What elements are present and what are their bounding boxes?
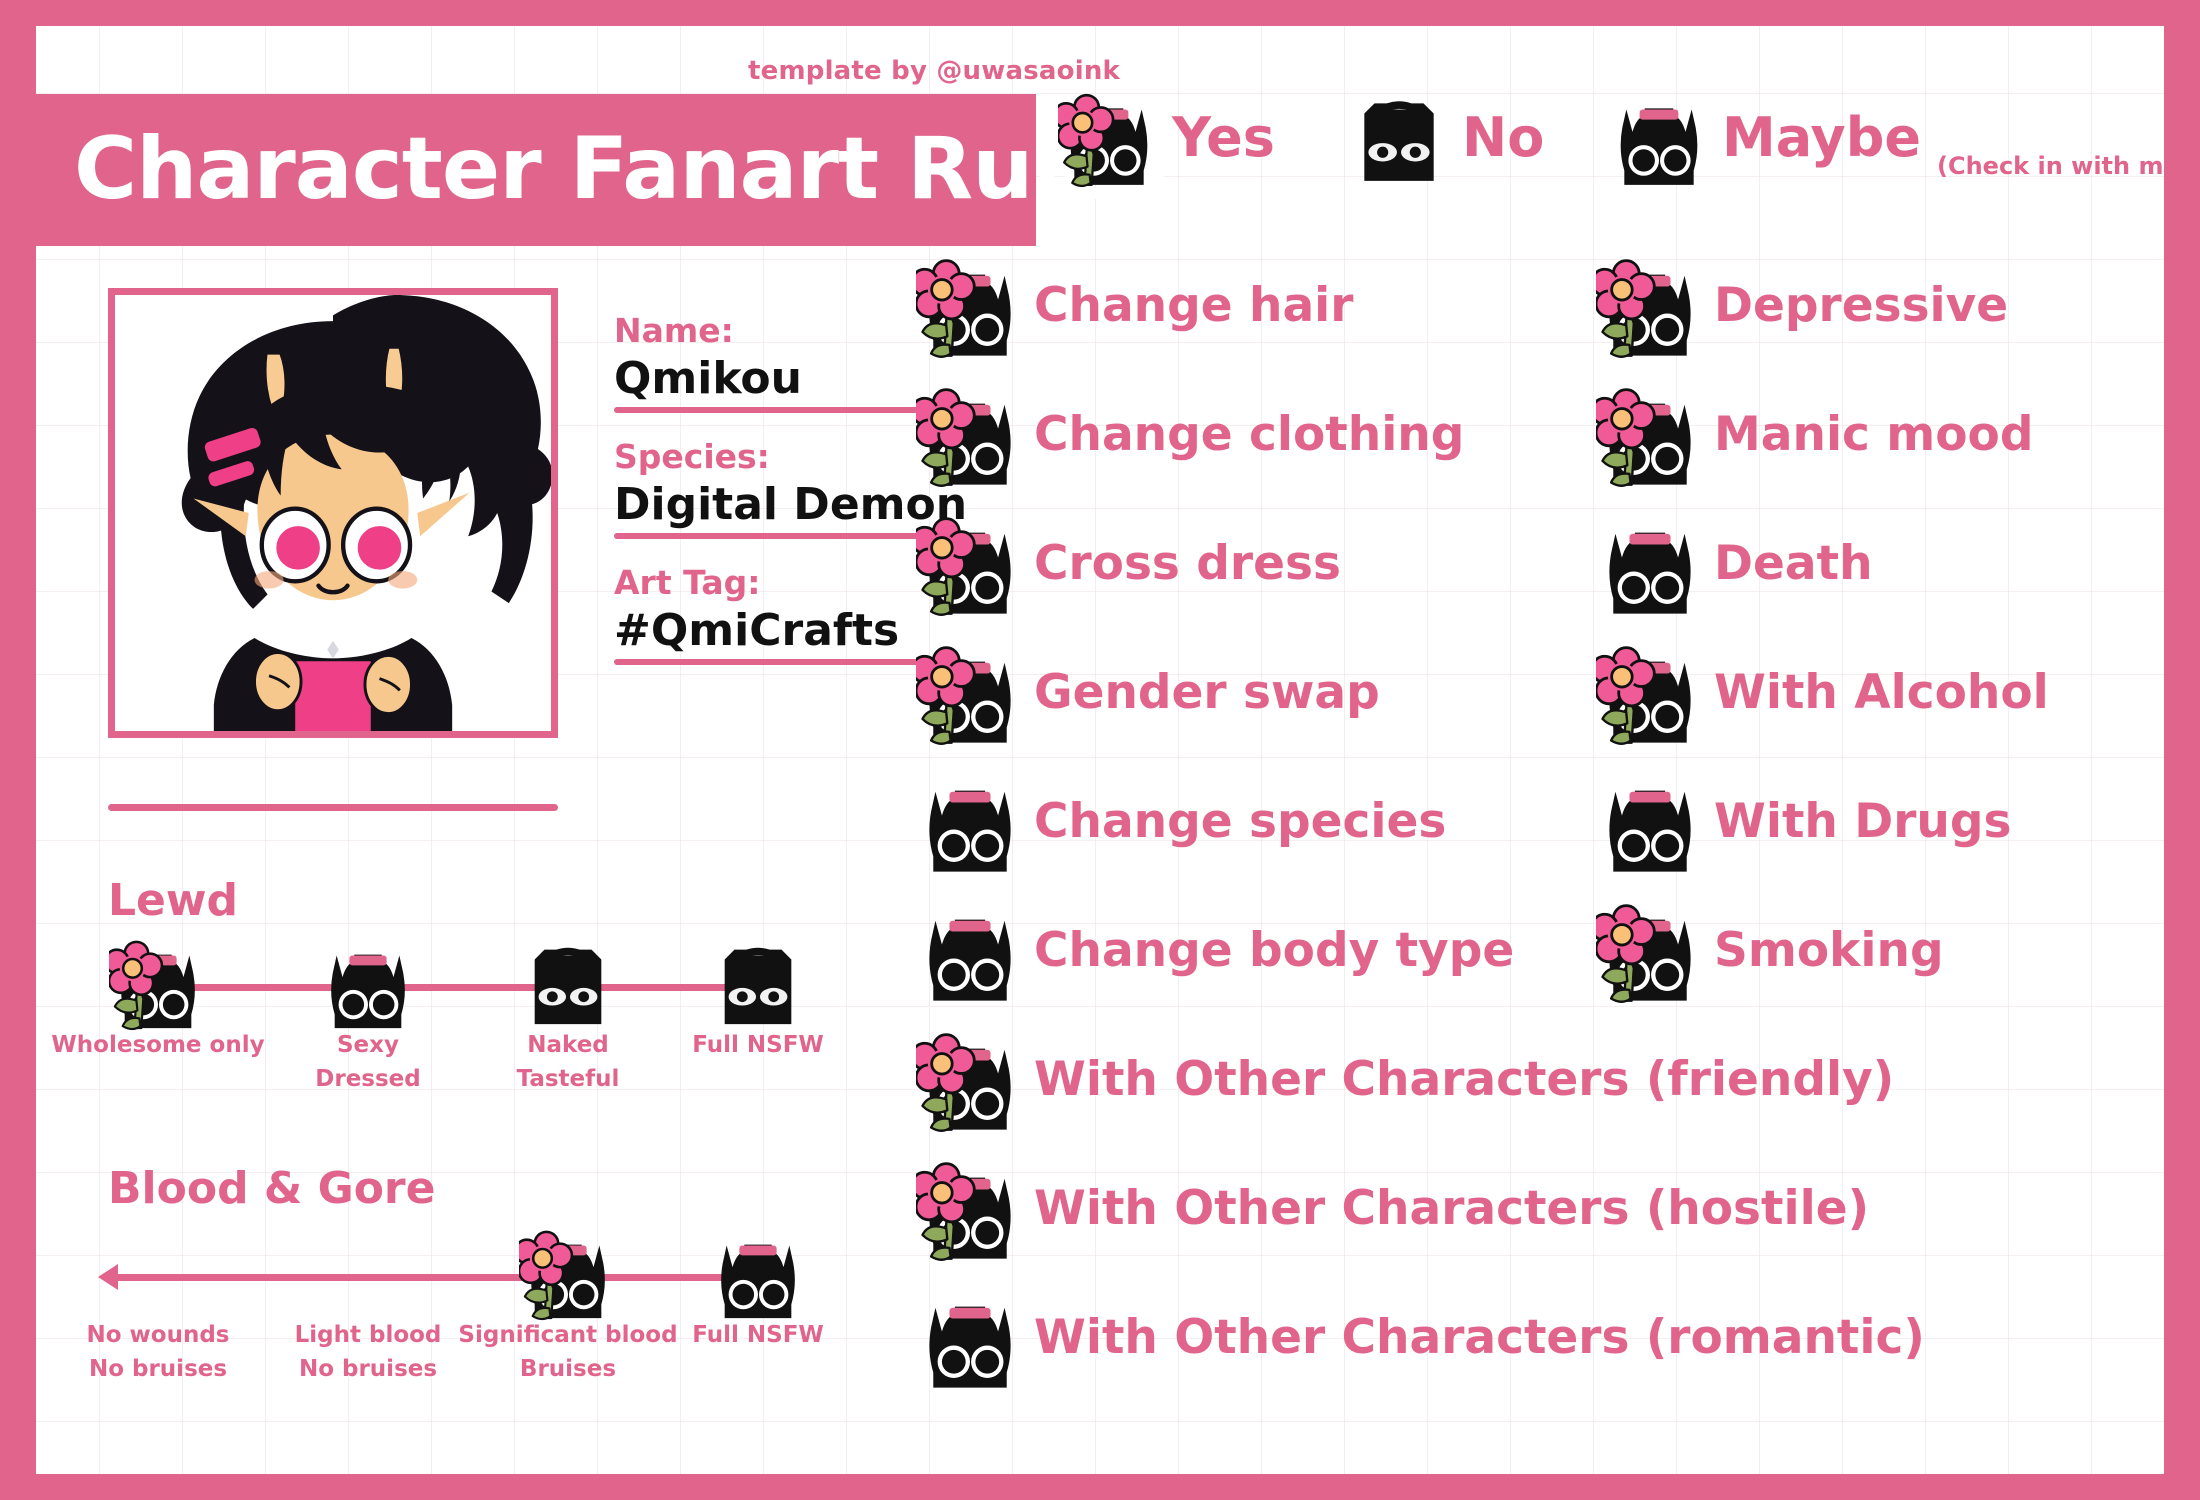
- rule-item: Death: [1596, 510, 1873, 618]
- yes-cat-flower-icon: [109, 934, 207, 1032]
- legend-label: No: [1462, 111, 1544, 165]
- rule-item: Change body type: [916, 897, 1514, 1005]
- scale-arrowhead: [98, 1264, 118, 1290]
- rule-item: With Other Characters (romantic): [916, 1284, 1925, 1392]
- legend-yes: Yes: [1058, 88, 1275, 188]
- scale-stop-caption: No woundsNo bruises: [86, 1318, 229, 1386]
- info-field: Name:Qmikou: [614, 311, 954, 413]
- yes-cat-flower-icon: [916, 639, 1024, 747]
- yes-cat-flower-icon: [1058, 87, 1160, 189]
- rule-item-label: With Other Characters (romantic): [1034, 1313, 1925, 1363]
- info-field: Species:Digital Demon: [614, 437, 954, 539]
- rule-item: Gender swap: [916, 639, 1380, 747]
- page-title: Character Fanart Rules: [74, 116, 1169, 222]
- scale-stop-caption: Full NSFW: [692, 1028, 824, 1062]
- scale-stop-caption: SexyDressed: [315, 1028, 420, 1096]
- legend-no: No: [1348, 88, 1544, 188]
- rule-item-label: Change hair: [1034, 281, 1353, 331]
- info-field-underline: [614, 533, 944, 539]
- yes-cat-flower-icon: [916, 252, 1024, 360]
- maybe-cat-band-icon: [1608, 87, 1710, 189]
- yes-cat-flower-icon: [519, 1224, 617, 1322]
- no-cat-dark-icon: [709, 934, 807, 1032]
- rule-item: Smoking: [1596, 897, 1944, 1005]
- rule-item-label: With Alcohol: [1714, 668, 2049, 718]
- rule-item-label: With Other Characters (hostile): [1034, 1184, 1869, 1234]
- yes-cat-flower-icon: [1596, 897, 1704, 1005]
- rule-item-label: Change species: [1034, 797, 1446, 847]
- info-field-label: Species:: [614, 437, 954, 477]
- no-cat-dark-icon: [1348, 87, 1450, 189]
- maybe-cat-band-icon: [916, 1284, 1024, 1392]
- rule-item-label: Cross dress: [1034, 539, 1341, 589]
- rule-item: Cross dress: [916, 510, 1341, 618]
- rules-sheet: template by @uwasaoink Character Fanart …: [36, 26, 2164, 1474]
- maybe-cat-band-icon: [709, 1224, 807, 1322]
- yes-cat-flower-icon: [1596, 252, 1704, 360]
- scale-lewd: Wholesome only SexyDressed NakedTasteful…: [108, 916, 948, 1096]
- rule-item: Change clothing: [916, 381, 1464, 489]
- info-field-label: Art Tag:: [614, 563, 954, 603]
- scale-stop-caption: Significant bloodBruises: [458, 1318, 677, 1386]
- legend-maybe: Maybe(Check in with me): [1608, 88, 2164, 188]
- maybe-cat-band-icon: [916, 768, 1024, 876]
- rule-item: With Alcohol: [1596, 639, 2049, 747]
- maybe-cat-band-icon: [319, 934, 417, 1032]
- info-field-label: Name:: [614, 311, 954, 351]
- legend-note: (Check in with me): [1937, 152, 2164, 180]
- legend-label: Maybe: [1722, 111, 1921, 165]
- rule-item: With Drugs: [1596, 768, 2012, 876]
- scale-axis: [156, 984, 768, 991]
- info-field-value: #QmiCrafts: [614, 605, 954, 657]
- rule-item: Change hair: [916, 252, 1353, 360]
- maybe-cat-band-icon: [1596, 510, 1704, 618]
- maybe-cat-band-icon: [1596, 768, 1704, 876]
- rule-item-label: With Drugs: [1714, 797, 2012, 847]
- scale-blood-gore: No woundsNo bruisesLight bloodNo bruises…: [108, 1206, 948, 1386]
- rule-item-label: Change body type: [1034, 926, 1514, 976]
- rule-item-label: Gender swap: [1034, 668, 1380, 718]
- rule-item-label: Smoking: [1714, 926, 1944, 976]
- legend-label: Yes: [1172, 111, 1275, 165]
- rule-item: With Other Characters (friendly): [916, 1026, 1894, 1134]
- rule-item-label: With Other Characters (friendly): [1034, 1055, 1894, 1105]
- rule-item: With Other Characters (hostile): [916, 1155, 1869, 1263]
- rule-item: Change species: [916, 768, 1446, 876]
- scale-axis: [116, 1274, 768, 1281]
- yes-cat-flower-icon: [916, 510, 1024, 618]
- info-field-underline: [614, 407, 944, 413]
- maybe-cat-band-icon: [916, 897, 1024, 1005]
- info-field: Art Tag:#QmiCrafts: [614, 563, 954, 665]
- rule-item: Depressive: [1596, 252, 2008, 360]
- character-info: Name:QmikouSpecies:Digital DemonArt Tag:…: [614, 311, 954, 689]
- character-portrait: [108, 288, 558, 738]
- info-field-value: Qmikou: [614, 353, 954, 405]
- section-divider: [108, 804, 558, 811]
- scale-stop-caption: Full NSFW: [692, 1318, 824, 1352]
- scale-stop-caption: NakedTasteful: [517, 1028, 620, 1096]
- yes-cat-flower-icon: [916, 1026, 1024, 1134]
- rule-item-label: Death: [1714, 539, 1873, 589]
- rule-item-label: Manic mood: [1714, 410, 2033, 460]
- no-cat-dark-icon: [519, 934, 617, 1032]
- info-field-value: Digital Demon: [614, 479, 954, 531]
- rule-item: Manic mood: [1596, 381, 2033, 489]
- title-banner: Character Fanart Rules: [36, 94, 1036, 246]
- rule-item-label: Change clothing: [1034, 410, 1464, 460]
- info-field-underline: [614, 659, 944, 665]
- rule-item-label: Depressive: [1714, 281, 2008, 331]
- yes-cat-flower-icon: [1596, 639, 1704, 747]
- yes-cat-flower-icon: [1596, 381, 1704, 489]
- scale-stop-caption: Wholesome only: [51, 1028, 264, 1062]
- yes-cat-flower-icon: [916, 1155, 1024, 1263]
- yes-cat-flower-icon: [916, 381, 1024, 489]
- template-credit: template by @uwasaoink: [748, 56, 1120, 86]
- scale-stop-caption: Light bloodNo bruises: [295, 1318, 442, 1386]
